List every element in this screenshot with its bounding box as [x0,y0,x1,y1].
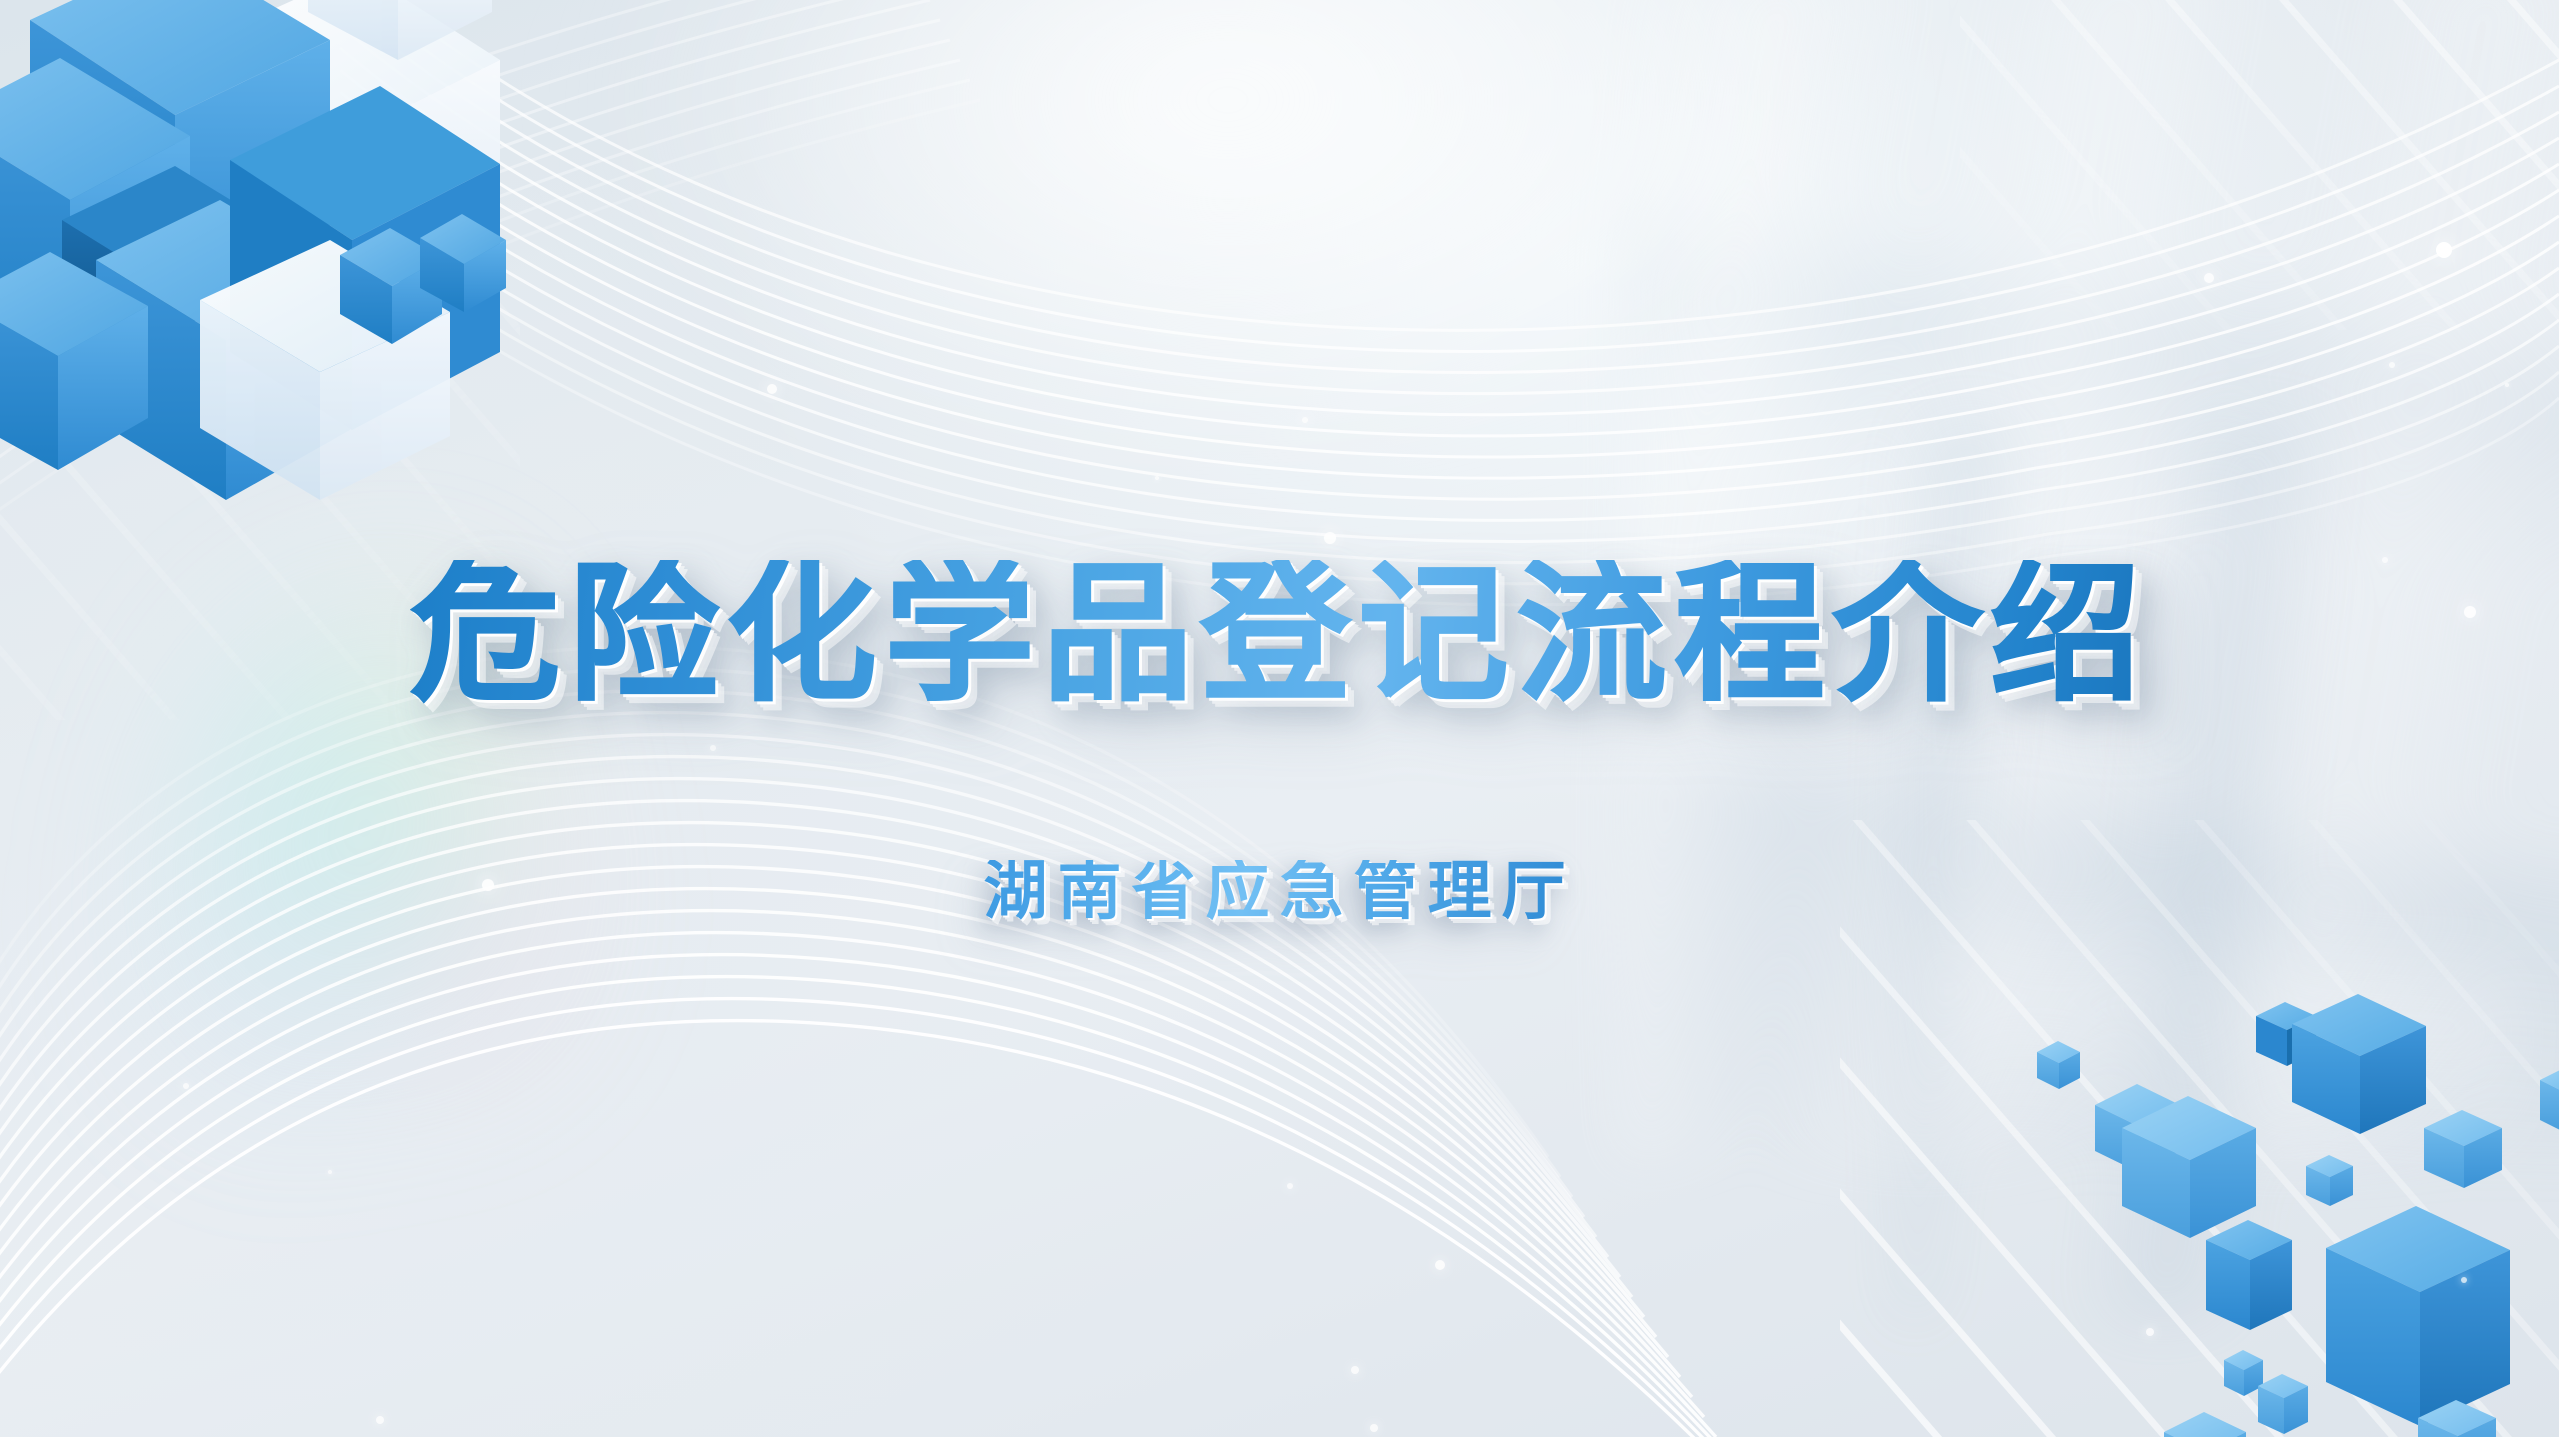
subtitle-text: 湖南省应急管理厅 [984,860,1576,924]
title-slide: 危险化学品登记流程介绍 危险化学品登记流程介绍 湖南省应急管理厅 湖南省应急管理… [0,0,2559,1437]
subtitle: 湖南省应急管理厅 湖南省应急管理厅 [984,860,1576,924]
title-text: 危险化学品登记流程介绍 [410,560,2148,710]
title-text-block: 危险化学品登记流程介绍 危险化学品登记流程介绍 湖南省应急管理厅 湖南省应急管理… [0,560,2559,924]
main-title: 危险化学品登记流程介绍 危险化学品登记流程介绍 [410,560,2148,710]
